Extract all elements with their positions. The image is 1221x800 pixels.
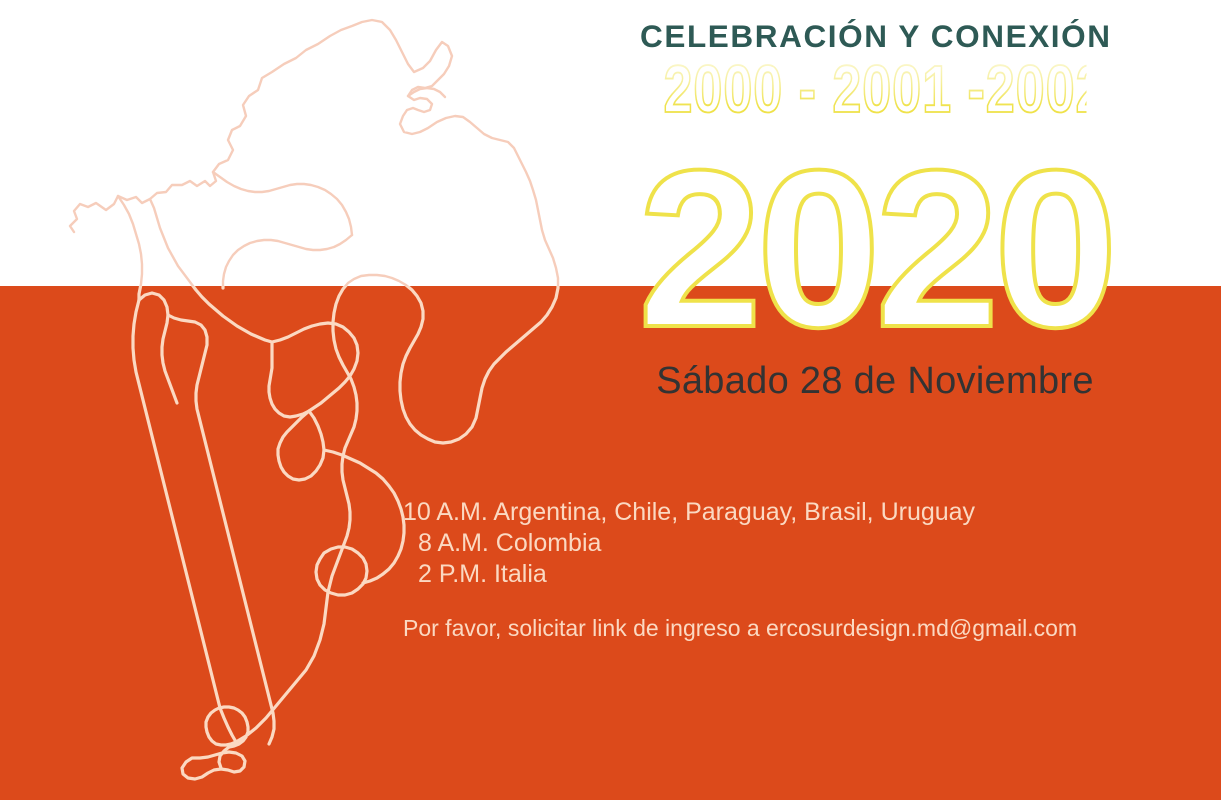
invitation-poster: CELEBRACIÓN Y CONEXIÓN 2000 - 2001 -2002… [0, 0, 1221, 800]
headline-block: CELEBRACIÓN Y CONEXIÓN 2000 - 2001 -2002 [640, 20, 1110, 115]
timezone-list: 10 A.M. Argentina, Chile, Paraguay, Bras… [403, 497, 983, 590]
rsvp-request-text: Por favor, solicitar link de ingreso a e… [403, 615, 1163, 642]
event-date: Sábado 28 de Noviembre [640, 360, 1110, 403]
page-title: CELEBRACIÓN Y CONEXIÓN [640, 20, 1110, 53]
past-years-label: 2000 - 2001 -2002 [664, 57, 1087, 124]
timezone-line-2: 8 A.M. Colombia [403, 528, 983, 559]
timezone-line-3: 2 P.M. Italia [403, 559, 983, 590]
big-year-2020: 2020 2020 [640, 146, 1110, 346]
big-year-outline: 2020 [638, 124, 1112, 374]
timezone-line-1: 10 A.M. Argentina, Chile, Paraguay, Bras… [403, 497, 983, 528]
